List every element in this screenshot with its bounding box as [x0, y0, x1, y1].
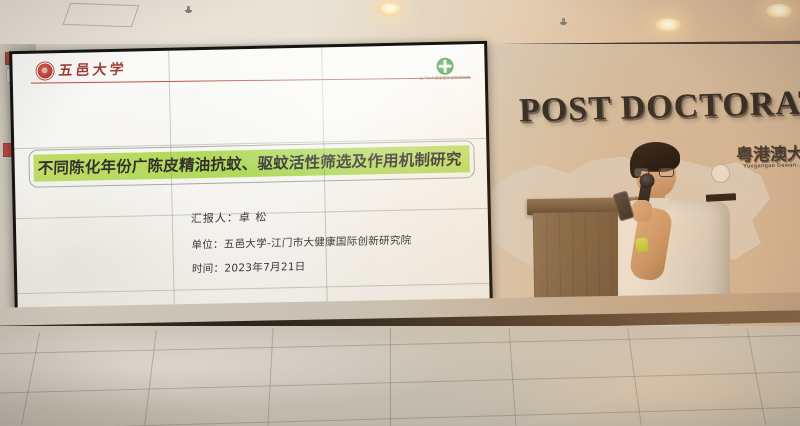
lanyard-badge [635, 237, 649, 253]
sleeve-patch-icon [711, 164, 730, 183]
tiled-floor [0, 326, 800, 426]
slide-brand-row: 五邑大学 江门市大健康国际创新研究院 [12, 48, 485, 90]
chest-logo-icon [706, 193, 736, 202]
downlight-icon [377, 2, 403, 16]
university-name: 五邑大学 [58, 59, 128, 81]
hand [632, 200, 652, 222]
presentation-slide: 五邑大学 江门市大健康国际创新研究院 不同陈化年份广陈皮精油抗蚊、驱蚊活性筛选及… [12, 44, 490, 314]
sprinkler-icon [185, 6, 192, 15]
downlight-icon [766, 4, 792, 18]
smartphone-icon [612, 190, 634, 221]
presenter-line: 汇报人：卓 松 [191, 206, 412, 227]
downlight-icon [655, 18, 681, 32]
institute-mark-icon [436, 58, 453, 75]
date-line: 时间：2023年7月21日 [192, 257, 413, 277]
air-vent-icon [63, 3, 140, 27]
sprinkler-icon [560, 18, 567, 27]
wuyi-university-logo: 五邑大学 [36, 59, 126, 81]
slide-meta: 汇报人：卓 松 单位：五邑大学-江门市大健康国际创新研究院 时间：2023年7月… [191, 206, 412, 277]
presentation-screen[interactable]: 五邑大学 江门市大健康国际创新研究院 不同陈化年份广陈皮精油抗蚊、驱蚊活性筛选及… [12, 44, 490, 314]
tile-grout-line [390, 328, 391, 426]
led-video-wall[interactable]: 五邑大学 江门市大健康国际创新研究院 不同陈化年份广陈皮精油抗蚊、驱蚊活性筛选及… [9, 41, 493, 317]
affiliation-line: 单位：五邑大学-江门市大健康国际创新研究院 [191, 233, 412, 253]
post-doctorate-sign: POST DOCTORATE [519, 83, 800, 130]
university-seal-icon [36, 62, 53, 79]
presentation-photo-scene: POST DOCTORATE 粤港澳大 Yuegangao Dawan... 五… [0, 0, 800, 426]
slide-title-box: 不同陈化年份广陈皮精油抗蚊、驱蚊活性筛选及作用机制研究 [28, 140, 475, 188]
